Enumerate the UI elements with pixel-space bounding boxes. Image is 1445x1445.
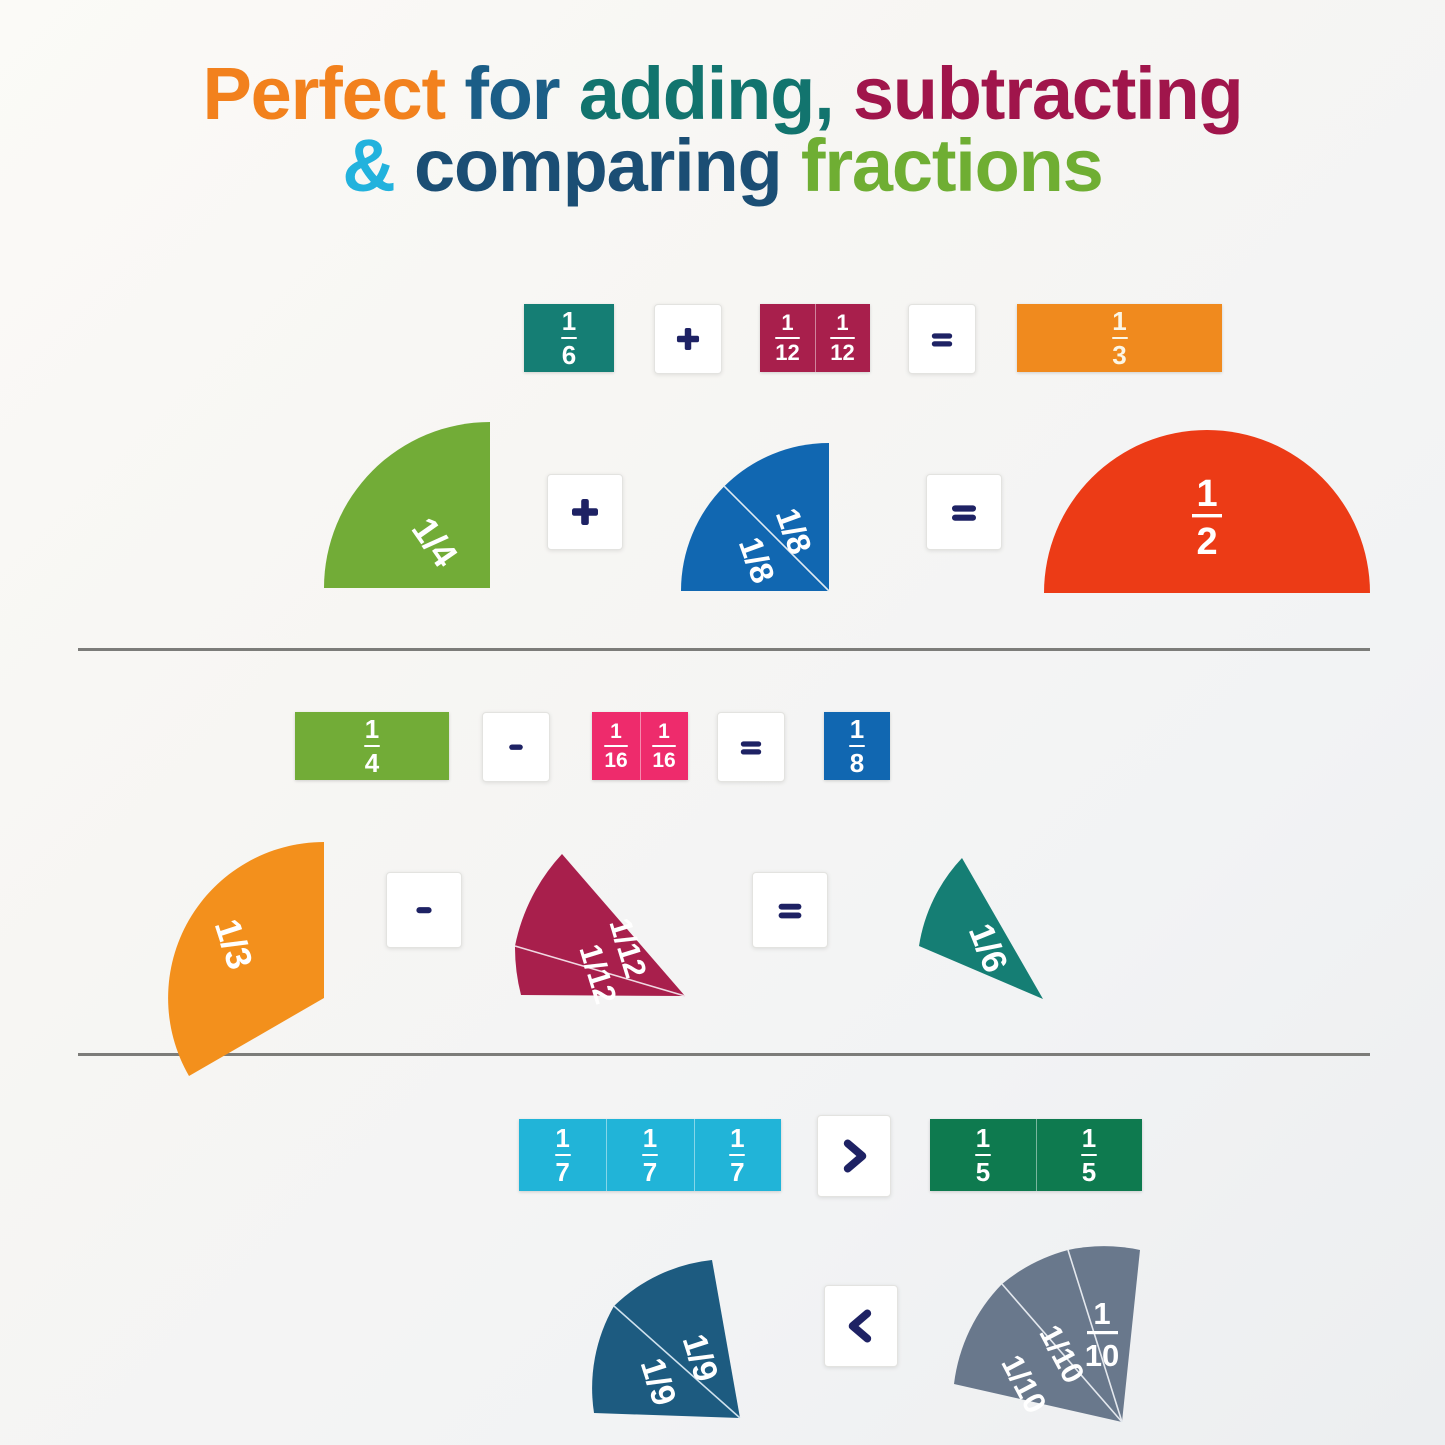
- fraction-bar-two-sixteenths[interactable]: 116116: [592, 712, 688, 780]
- fraction-cell: 17: [519, 1119, 606, 1191]
- fraction-rule: [1112, 337, 1128, 340]
- fraction-denominator: 7: [643, 1159, 657, 1185]
- fraction-wedge-two-eighths[interactable]: 1/8 1/8: [679, 441, 831, 593]
- operator-minus[interactable]: [482, 712, 550, 782]
- operator-minus-icon: [405, 891, 443, 929]
- fraction-wedge-one-sixth[interactable]: 1/6: [916, 856, 1061, 1001]
- poster-canvas: Perfect for adding, subtracting & compar…: [0, 0, 1445, 1445]
- fraction-rule: [604, 745, 627, 748]
- operator-equals-icon: [734, 730, 768, 764]
- fraction-denominator: 16: [604, 750, 627, 771]
- section-divider-1: [78, 648, 1370, 651]
- fraction-numerator: 1: [730, 1125, 744, 1151]
- operator-plus-icon: [565, 492, 605, 532]
- fraction-wedge-one-half[interactable]: 1 2: [1042, 430, 1372, 595]
- title-line-1: Perfect for adding, subtracting: [0, 58, 1445, 130]
- fraction-denominator: 5: [976, 1159, 990, 1185]
- fraction-wedge-three-tenths[interactable]: 1 10 1/10 1/10: [950, 1248, 1150, 1424]
- fraction-rule: [561, 337, 577, 340]
- operator-greater-than-icon: [833, 1135, 875, 1177]
- fraction-cell: 13: [1017, 304, 1222, 372]
- operator-plus[interactable]: [547, 474, 623, 550]
- fraction-rule: [555, 1154, 571, 1157]
- fraction-denominator: 7: [730, 1159, 744, 1185]
- fraction-denominator: 7: [555, 1159, 569, 1185]
- fraction-denominator: 8: [850, 750, 864, 776]
- fraction-cell: 15: [930, 1119, 1036, 1191]
- fraction-rule: [849, 745, 865, 748]
- fraction-cell: 17: [606, 1119, 693, 1191]
- fraction-wedge-one-third[interactable]: 1/3: [86, 840, 326, 1000]
- fraction-bar-two-twelfths[interactable]: 112112: [760, 304, 870, 372]
- operator-minus-icon: [499, 730, 533, 764]
- title-word-for: for: [464, 52, 559, 135]
- fraction-wedge-one-quarter[interactable]: 1/4: [322, 420, 492, 590]
- fraction-rule: [652, 745, 675, 748]
- fraction-denominator: 6: [562, 342, 576, 368]
- title-word-subtracting: subtracting: [853, 52, 1243, 135]
- page-title: Perfect for adding, subtracting & compar…: [0, 58, 1445, 202]
- fraction-numerator: 1: [643, 1125, 657, 1151]
- svg-text:1: 1: [1196, 473, 1217, 515]
- fraction-denominator: 5: [1082, 1159, 1096, 1185]
- fraction-rule: [364, 745, 380, 748]
- fraction-denominator: 3: [1112, 342, 1126, 368]
- fraction-numerator: 1: [610, 721, 622, 742]
- fraction-rule: [775, 337, 799, 340]
- fraction-cell: 116: [640, 712, 688, 780]
- title-word-comparing: comparing: [414, 124, 781, 207]
- title-word-perfect: Perfect: [202, 52, 445, 135]
- title-word-adding: adding,: [579, 52, 834, 135]
- operator-greater-than[interactable]: [817, 1115, 891, 1197]
- fraction-bar-three-sevenths[interactable]: 171717: [519, 1119, 781, 1191]
- fraction-bar-one-third[interactable]: 13: [1017, 304, 1222, 372]
- operator-less-than[interactable]: [824, 1285, 898, 1367]
- fraction-cell: 112: [760, 304, 815, 372]
- fraction-cell: 17: [694, 1119, 781, 1191]
- operator-minus[interactable]: [386, 872, 462, 948]
- fraction-numerator: 1: [781, 312, 793, 334]
- operator-less-than-icon: [840, 1305, 882, 1347]
- fraction-denominator: 4: [365, 750, 379, 776]
- operator-equals-icon: [771, 891, 809, 929]
- svg-text:1: 1: [1093, 1296, 1110, 1331]
- operator-equals-icon: [944, 492, 984, 532]
- fraction-cell: 15: [1036, 1119, 1142, 1191]
- operator-plus[interactable]: [654, 304, 722, 374]
- fraction-cell: 16: [524, 304, 614, 372]
- operator-equals[interactable]: [752, 872, 828, 948]
- operator-plus-icon: [671, 322, 705, 356]
- wedge-sector-one-quarter: [324, 422, 490, 588]
- fraction-wedge-two-ninths[interactable]: 1/9 1/9: [592, 1258, 752, 1420]
- fraction-cell: 116: [592, 712, 640, 780]
- fraction-rule: [642, 1154, 658, 1157]
- fraction-numerator: 1: [1082, 1125, 1096, 1151]
- fraction-bar-one-sixth[interactable]: 16: [524, 304, 614, 372]
- fraction-bar-two-fifths[interactable]: 1515: [930, 1119, 1142, 1191]
- fraction-cell: 18: [824, 712, 890, 780]
- fraction-denominator: 12: [775, 342, 799, 364]
- operator-equals[interactable]: [717, 712, 785, 782]
- fraction-numerator: 1: [836, 312, 848, 334]
- fraction-wedge-two-twelfths[interactable]: 1/12 1/12: [512, 852, 687, 998]
- fraction-numerator: 1: [850, 716, 864, 742]
- fraction-rule: [830, 337, 854, 340]
- fraction-numerator: 1: [562, 308, 576, 334]
- fraction-cell: 14: [295, 712, 449, 780]
- operator-equals-icon: [925, 322, 959, 356]
- svg-text:2: 2: [1196, 521, 1217, 563]
- fraction-denominator: 16: [652, 750, 675, 771]
- fraction-bar-one-eighth[interactable]: 18: [824, 712, 890, 780]
- fraction-numerator: 1: [1112, 308, 1126, 334]
- fraction-rule: [1081, 1154, 1097, 1157]
- section-divider-2: [78, 1053, 1370, 1056]
- title-word-: &: [342, 124, 394, 207]
- fraction-cell: 112: [815, 304, 870, 372]
- fraction-numerator: 1: [976, 1125, 990, 1151]
- title-line-2: & comparing fractions: [0, 130, 1445, 202]
- fraction-numerator: 1: [365, 716, 379, 742]
- fraction-numerator: 1: [555, 1125, 569, 1151]
- fraction-rule: [729, 1154, 745, 1157]
- operator-equals[interactable]: [908, 304, 976, 374]
- operator-equals[interactable]: [926, 474, 1002, 550]
- title-word-fractions: fractions: [801, 124, 1103, 207]
- fraction-rule: [975, 1154, 991, 1157]
- fraction-numerator: 1: [658, 721, 670, 742]
- fraction-denominator: 12: [830, 342, 854, 364]
- fraction-bar-one-quarter[interactable]: 14: [295, 712, 449, 780]
